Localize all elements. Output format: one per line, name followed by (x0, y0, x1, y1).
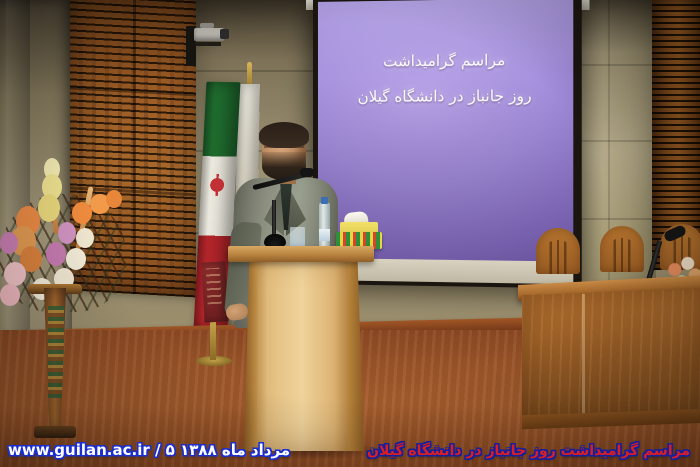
iran-flag-emblem (207, 174, 228, 196)
flower-bloom (4, 262, 26, 286)
chair-back (600, 226, 644, 272)
floral-arrangement (0, 158, 130, 438)
head-table-front-panel (522, 289, 700, 423)
water-bottle (319, 203, 330, 251)
flower-bloom (72, 202, 92, 224)
vase-foot (34, 426, 76, 438)
podium-edge-right (348, 261, 364, 451)
flower-bloom (0, 284, 20, 306)
bottle-cap (321, 197, 328, 204)
ceremonial-banner (201, 261, 228, 322)
flower-bloom (38, 194, 60, 222)
podium-front-panel (248, 261, 356, 451)
panel-seam-vertical (133, 0, 136, 294)
flower-bloom (0, 232, 18, 254)
podium-microphone-head (300, 168, 314, 177)
podium-edge-left (244, 261, 257, 451)
flower-bloom (106, 190, 122, 208)
slide-line-2: روز جانباز در دانشگاه گیلان (318, 81, 573, 111)
slide-line-1: مراسم گرامیداشت (318, 45, 573, 76)
flower-bloom (58, 222, 76, 244)
stone-tile-line (196, 70, 314, 72)
head-table-panel-divider (582, 294, 585, 420)
flower-bloom (46, 242, 66, 266)
flower-bloom (66, 248, 86, 270)
podium-lectern (236, 246, 364, 451)
camera-arm (195, 42, 221, 46)
flower-bloom (76, 228, 94, 248)
chair-back (536, 228, 580, 274)
caption-event-title: مراسم گرامیداشت روز جانباز در دانشگاه گی… (367, 443, 690, 459)
banner-stand-pole (210, 318, 216, 360)
head-table (518, 280, 700, 430)
camera-top-housing (200, 23, 214, 28)
camera-lens (220, 29, 229, 39)
slide-text-block: مراسم گرامیداشت روز جانباز در دانشگاه گی… (318, 45, 573, 111)
bottle-label (319, 229, 330, 241)
speaker-hair (259, 122, 309, 148)
podium-desktop-surface (228, 246, 374, 262)
caption-website-and-date: www.guilan.ac.ir / ۵ مرداد ماه ۱۳۸۸ (8, 441, 290, 459)
event-photo: مراسم گرامیداشت روز جانباز در دانشگاه گی… (0, 0, 700, 467)
wall-mounted-video-camera-icon (186, 22, 232, 56)
